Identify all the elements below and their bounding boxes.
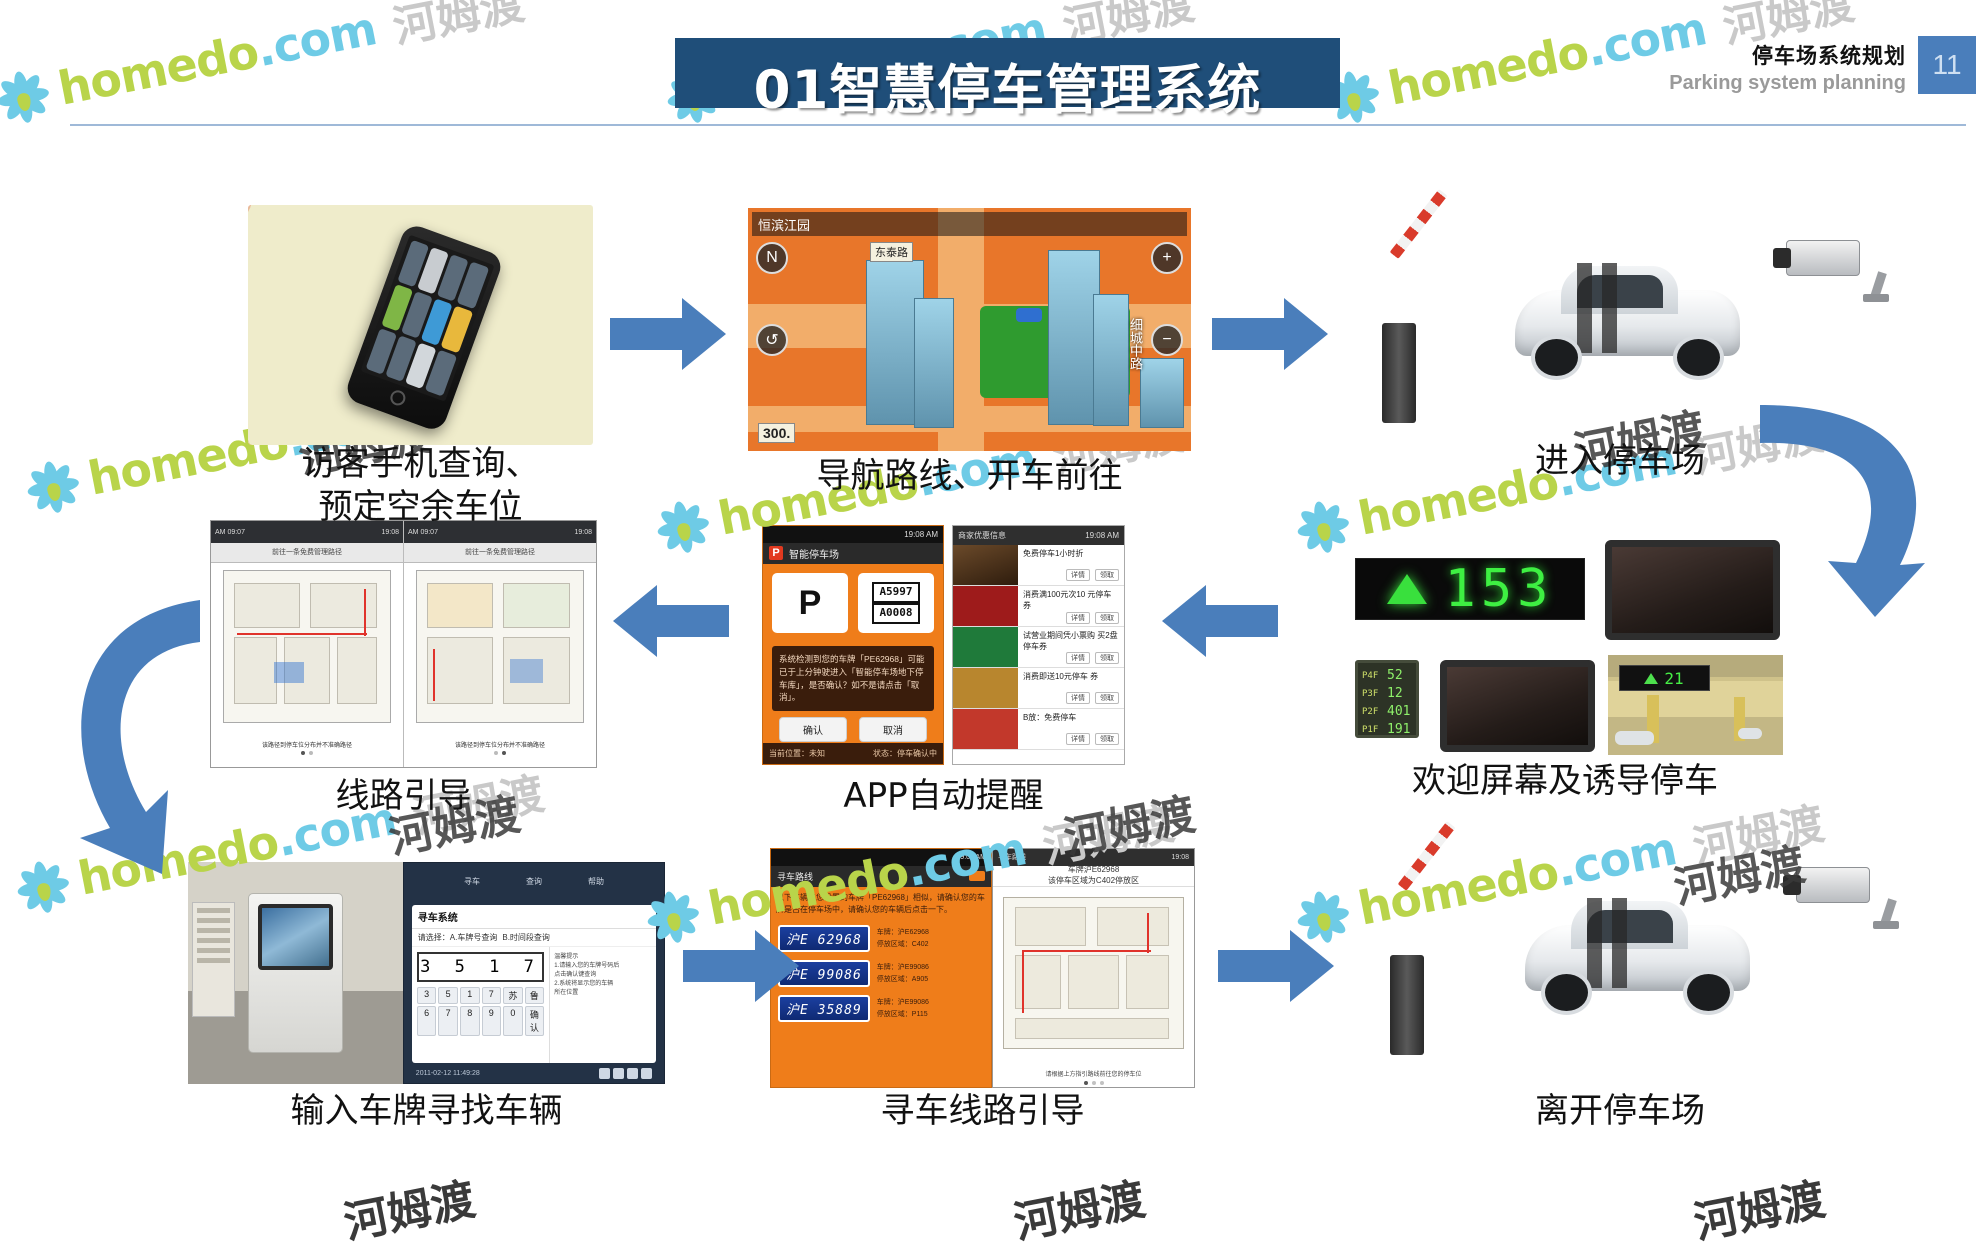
watermark-brand-cn: 河姆渡: [338, 1163, 480, 1251]
kiosk-timestamp: 2011-02-12 11:49:28: [416, 1070, 480, 1077]
step-7-search-screen: 寻车 查询 帮助 寻车系统 请选择：A.车牌号查询 B.时间段查询 3 5 1 …: [403, 862, 665, 1084]
garage-arrow-icon: [1644, 673, 1658, 684]
floorplan-footer: 该路径到停车位分布并不准确路径: [262, 740, 352, 749]
coupon-detail-link[interactable]: 详情: [1066, 612, 1090, 624]
step-3-barrier-gate-icon: [1382, 248, 1502, 423]
coupon-thumb: [953, 586, 1018, 626]
coupon-claim-link[interactable]: 领取: [1095, 612, 1119, 624]
keypad-key[interactable]: 鲁: [525, 987, 545, 1004]
app-message: 系统检测到您的车牌「PE62968」可能已于上分钟驶进入「智能停车场地下停车库」…: [772, 646, 934, 711]
coupon-thumb: [953, 709, 1018, 749]
step-4-mini-led-board: P4F52 P3F12 P2F401 P1F191: [1355, 660, 1419, 738]
app-tile-plate[interactable]: A5997 A0008: [858, 573, 934, 633]
step-4-led-sign: 153: [1355, 558, 1585, 620]
zoom-in-button[interactable]: +: [1151, 242, 1183, 274]
plate-meta-number: 车牌：沪E99086: [877, 964, 929, 971]
coupon-claim-link[interactable]: 领取: [1095, 652, 1119, 664]
led-count-value: 153: [1445, 559, 1554, 619]
step-3-white-car-image: [1500, 245, 1755, 395]
app-confirm-button[interactable]: 确认: [779, 717, 847, 742]
coupon-row[interactable]: 免费停车1小时折 详情领取: [953, 545, 1124, 586]
coupon-text: 消费满100元次10 元停车券: [1023, 590, 1119, 612]
plate-meta-zone: 停放区域：C402: [877, 941, 929, 948]
nav-distance-label: 300.: [758, 423, 795, 443]
keypad-key[interactable]: 3: [417, 987, 437, 1004]
step-8-route-map-screen: 寻车路线19:08 车牌沪E62968 该停车区域为C402停放区 请根据上方指…: [992, 848, 1195, 1088]
routemap-footer: 请根据上方指引路线前往您的停车位: [1045, 1069, 1141, 1078]
rotate-icon[interactable]: ↺: [756, 324, 788, 356]
coupon-claim-link[interactable]: 领取: [1095, 569, 1119, 581]
header-divider: [70, 124, 1966, 126]
flower-logo-icon: [1291, 495, 1354, 558]
arrow-step7-to-step8: [683, 930, 799, 1002]
step-6-image-floorplan: AM 09:0719:08 前往一条免费管理路径 该路径到停车位分布并不准确路径…: [210, 520, 597, 768]
step-1-image-phone-map: [248, 205, 593, 445]
step-9-caption: 离开停车场: [1440, 1090, 1800, 1133]
page-title: 01智慧停车管理系统: [675, 48, 1340, 124]
keypad-key[interactable]: 7: [438, 1006, 458, 1036]
plate-meta-number: 车牌：沪E62968: [877, 929, 929, 936]
watermark-brand-cn: 河姆渡: [1688, 1163, 1830, 1251]
floorplan-tabbar: 前往一条免费管理路径: [404, 543, 596, 563]
step-9-white-car-image: [1510, 880, 1765, 1030]
coupon-row[interactable]: 消费即送10元停车 券 详情领取: [953, 668, 1124, 709]
plate-meta-number: 车牌：沪E99086: [877, 999, 929, 1006]
smartphone-icon: [343, 222, 504, 433]
floorplan-footer: 该路径到停车位分布并不准确路径: [455, 740, 545, 749]
keypad-key[interactable]: 1: [460, 987, 480, 1004]
step-8-plate-list-screen: 19:08 AM 寻车路线 以下车辆与您设置的车牌「PE62968」相似，请确认…: [770, 848, 992, 1088]
keypad-key[interactable]: 6: [417, 1006, 437, 1036]
arrow-step6-to-step7: [50, 590, 265, 880]
mini-led-label: P3F: [1362, 689, 1382, 699]
step-8-caption: 寻车线路引导: [770, 1090, 1195, 1133]
coupon-thumb: [953, 627, 1018, 667]
step-3-cctv-camera-icon: [1780, 228, 1885, 318]
coupon-detail-link[interactable]: 详情: [1066, 652, 1090, 664]
watermark: 河姆渡: [1680, 1163, 1830, 1253]
coupon-row[interactable]: B放：免费停车 详情领取: [953, 709, 1124, 750]
mini-led-label: P4F: [1362, 671, 1382, 681]
coupon-bar-right: 19:08 AM: [1085, 531, 1119, 540]
step-2-image-navigation-map: 恒滨江园 N ↺ + − 东泰路 300. 细城中路: [748, 208, 1191, 451]
mini-led-label: P2F: [1362, 707, 1382, 717]
keypad-confirm-key[interactable]: 确认: [525, 1006, 545, 1036]
arrow-step1-to-step2: [610, 298, 726, 370]
header-title-cn: 停车场系统规划: [1669, 40, 1906, 70]
mini-led-label: P1F: [1362, 725, 1382, 735]
mini-led-value: 401: [1387, 704, 1410, 719]
platelist-note: 以下车辆与您设置的车牌「PE62968」相似，请确认您的车牌是否在停车场中，请确…: [776, 892, 986, 916]
garage-count-value: 21: [1664, 669, 1683, 688]
kiosk-option-1[interactable]: 请选择：A.车牌号查询: [418, 932, 498, 943]
floorplan-status-left: AM 09:07: [408, 529, 438, 536]
coupon-row[interactable]: 试营业期间凭小票购 买2盘停车券 详情领取: [953, 627, 1124, 668]
header-right: 停车场系统规划 Parking system planning 11: [1669, 36, 1976, 95]
app-cancel-button[interactable]: 取消: [859, 717, 927, 742]
keypad-key[interactable]: 8: [460, 1006, 480, 1036]
plate-search-input[interactable]: 3 5 1 7: [417, 952, 544, 982]
watermark-brand-a: homedo: [54, 24, 263, 116]
arrow-step2-to-step3: [1212, 298, 1328, 370]
coupon-thumb: [953, 668, 1018, 708]
mini-led-value: 12: [1387, 686, 1403, 701]
coupon-thumb: [953, 545, 1018, 585]
coupon-text: 消费即送10元停车 券: [1023, 672, 1119, 683]
kiosk-tab-query[interactable]: 查询: [514, 876, 554, 887]
arrow-step4-to-step5: [1162, 585, 1278, 657]
watermark: homedo.com 河姆渡: [0, 0, 529, 133]
routemap-bar-right: 19:08: [1171, 854, 1189, 861]
step-1-caption: 访客手机查询、 预定空余车位: [248, 443, 593, 528]
coupon-text: 试营业期间凭小票购 买2盘停车券: [1023, 631, 1119, 653]
step-7-kiosk-photo: [188, 862, 403, 1084]
step-5-caption: APP自动提醒: [762, 775, 1125, 818]
kiosk-tab-help[interactable]: 帮助: [576, 876, 616, 887]
app-footer-left: 当前位置：未知: [769, 748, 825, 759]
watermark-brand-b: .com: [252, 1, 380, 77]
page-number-badge: 11: [1918, 36, 1976, 94]
kiosk-tab-find[interactable]: 寻车: [452, 876, 492, 887]
platelist-title: 寻车路线: [777, 870, 813, 883]
app-status-time: 19:08 AM: [904, 530, 938, 539]
nav-street-vertical: 细城中路: [1126, 318, 1145, 370]
watermark-brand-cn: 河姆渡: [1008, 1163, 1150, 1251]
flower-logo-icon: [21, 455, 84, 518]
watermark-brand-a: homedo: [1384, 24, 1593, 116]
plate-meta-zone: 停放区域：A905: [877, 976, 928, 983]
coupon-detail-link[interactable]: 详情: [1066, 692, 1090, 704]
routemap-title: 车牌沪E62968 该停车区域为C402停放区: [993, 866, 1194, 887]
header-title-en: Parking system planning: [1669, 72, 1906, 95]
keypad-key[interactable]: 9: [482, 1006, 502, 1036]
flower-logo-icon: [0, 65, 54, 128]
arrow-step5-to-step6: [613, 585, 729, 657]
app-plate-top: A5997: [872, 582, 919, 603]
app-plate-bottom: A0008: [872, 603, 919, 624]
up-arrow-icon: [1387, 574, 1427, 604]
app-title: 智能停车场: [789, 546, 839, 561]
coupon-row[interactable]: 消费满100元次10 元停车券 详情领取: [953, 586, 1124, 627]
kiosk-panel-title: 寻车系统: [412, 905, 656, 929]
routemap-bar-left: 寻车路线: [998, 852, 1026, 862]
keypad-key[interactable]: 5: [438, 987, 458, 1004]
nav-street-label: 东泰路: [870, 242, 913, 262]
zoom-out-button[interactable]: −: [1151, 324, 1183, 356]
step-5-image-app-screen: 19:08 AM P智能停车场 P A5997 A0008 系统检测到您的车牌「…: [762, 525, 944, 765]
plate-meta-zone: 停放区域：P115: [877, 1011, 928, 1018]
arrow-step3-to-step4: [1700, 395, 1950, 625]
step-4-caption: 欢迎屏幕及诱导停车: [1340, 760, 1790, 803]
floorplan-tabbar: 前往一条免费管理路径: [211, 543, 403, 563]
step-7-caption: 输入车牌寻找车辆: [188, 1090, 665, 1133]
flower-logo-icon: [651, 495, 714, 558]
step-4-garage-photo: 21: [1608, 655, 1783, 755]
arrow-step8-to-step9: [1218, 930, 1334, 1002]
step-5-image-coupon-list: 商家优惠信息 19:08 AM 免费停车1小时折 详情领取 消费满100元次10…: [952, 525, 1125, 765]
app-footer-right: 状态：停车确认中: [873, 748, 937, 759]
floorplan-status-right: 19:08: [381, 529, 399, 536]
step-4-display-screen-2: [1440, 660, 1595, 752]
coupon-claim-link[interactable]: 领取: [1095, 692, 1119, 704]
coupon-claim-link[interactable]: 领取: [1095, 733, 1119, 745]
kiosk-notes: 温馨提示 1.请输入您的车牌号码后 点击确认键查询 2.系统将显示您的车辆 所在…: [549, 947, 656, 1063]
keypad-key[interactable]: 0: [503, 1006, 523, 1036]
keypad-key[interactable]: 苏: [503, 987, 523, 1004]
platelist-status-time: 19:08 AM: [956, 854, 986, 861]
step-9-barrier-gate-icon: [1390, 880, 1510, 1055]
platelist-row[interactable]: 沪E 99086 车牌：沪E99086停放区域：A905: [771, 956, 991, 991]
coupon-text: B放：免费停车: [1023, 713, 1119, 724]
step-6-caption: 线路引导: [210, 775, 597, 818]
mini-led-value: 191: [1387, 722, 1410, 737]
platelist-row[interactable]: 沪E 62968 车牌：沪E62968停放区域：C402: [771, 921, 991, 956]
step-9-cctv-camera-icon: [1790, 855, 1895, 945]
nav-label-top: 恒滨江园: [758, 215, 810, 234]
step-2-caption: 导航路线、开车前往: [748, 455, 1191, 498]
floorplan-status-left: AM 09:07: [215, 529, 245, 536]
floorplan-panel-right: AM 09:0719:08 前往一条免费管理路径 该路径到停车位分布并不准确路径: [404, 521, 596, 767]
platelist-row[interactable]: 沪E 35889 车牌：沪E99086停放区域：P115: [771, 991, 991, 1026]
floorplan-status-right: 19:08: [574, 529, 592, 536]
mini-led-value: 52: [1387, 668, 1403, 683]
watermark-brand-cn: 河姆渡: [387, 0, 529, 56]
coupon-bar-left: 商家优惠信息: [958, 530, 1006, 541]
parking-p-icon: P: [769, 546, 783, 560]
watermark: 河姆渡: [330, 1163, 480, 1253]
coupon-detail-link[interactable]: 详情: [1066, 569, 1090, 581]
coupon-detail-link[interactable]: 详情: [1066, 733, 1090, 745]
keypad-key[interactable]: 7: [482, 987, 502, 1004]
step-3-caption: 进入停车场: [1440, 440, 1800, 483]
app-tile-parking-icon[interactable]: P: [772, 573, 848, 633]
watermark: 河姆渡: [1000, 1163, 1150, 1253]
kiosk-option-2[interactable]: B.时间段查询: [502, 932, 550, 943]
compass-icon[interactable]: N: [756, 242, 788, 274]
coupon-text: 免费停车1小时折: [1023, 549, 1119, 560]
